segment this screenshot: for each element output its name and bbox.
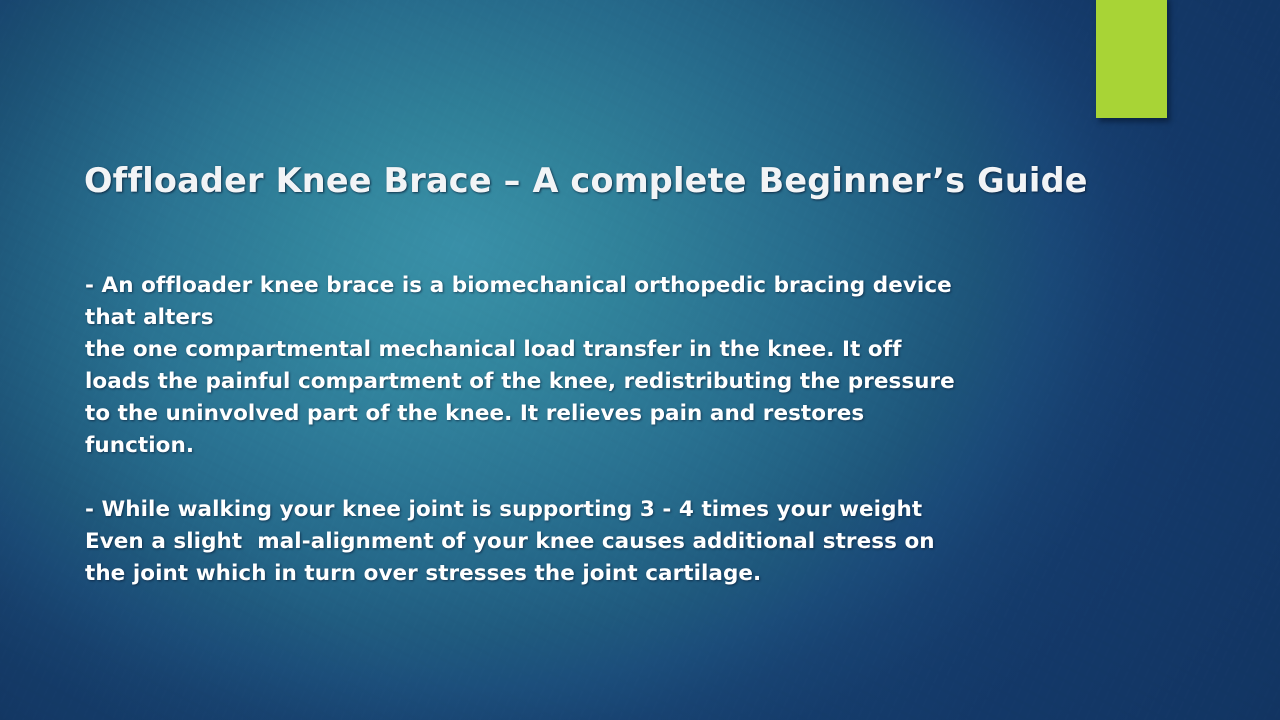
body-paragraph-1: - An offloader knee brace is a biomechan… <box>85 270 1200 462</box>
slide-body: - An offloader knee brace is a biomechan… <box>85 270 1200 590</box>
presentation-slide: Offloader Knee Brace – A complete Beginn… <box>0 0 1280 720</box>
body-line: to the uninvolved part of the knee. It r… <box>85 398 1200 430</box>
body-line: Even a slight mal-alignment of your knee… <box>85 526 1200 558</box>
body-line: the joint which in turn over stresses th… <box>85 558 1200 590</box>
body-line: that alters <box>85 302 1200 334</box>
body-line: function. <box>85 430 1200 462</box>
body-paragraph-2: - While walking your knee joint is suppo… <box>85 494 1200 590</box>
body-line: - While walking your knee joint is suppo… <box>85 494 1200 526</box>
body-line: - An offloader knee brace is a biomechan… <box>85 270 1200 302</box>
body-line: loads the painful compartment of the kne… <box>85 366 1200 398</box>
body-line: the one compartmental mechanical load tr… <box>85 334 1200 366</box>
slide-title: Offloader Knee Brace – A complete Beginn… <box>84 161 1204 201</box>
green-accent-rectangle <box>1096 0 1167 118</box>
paragraph-spacer <box>85 462 1200 494</box>
